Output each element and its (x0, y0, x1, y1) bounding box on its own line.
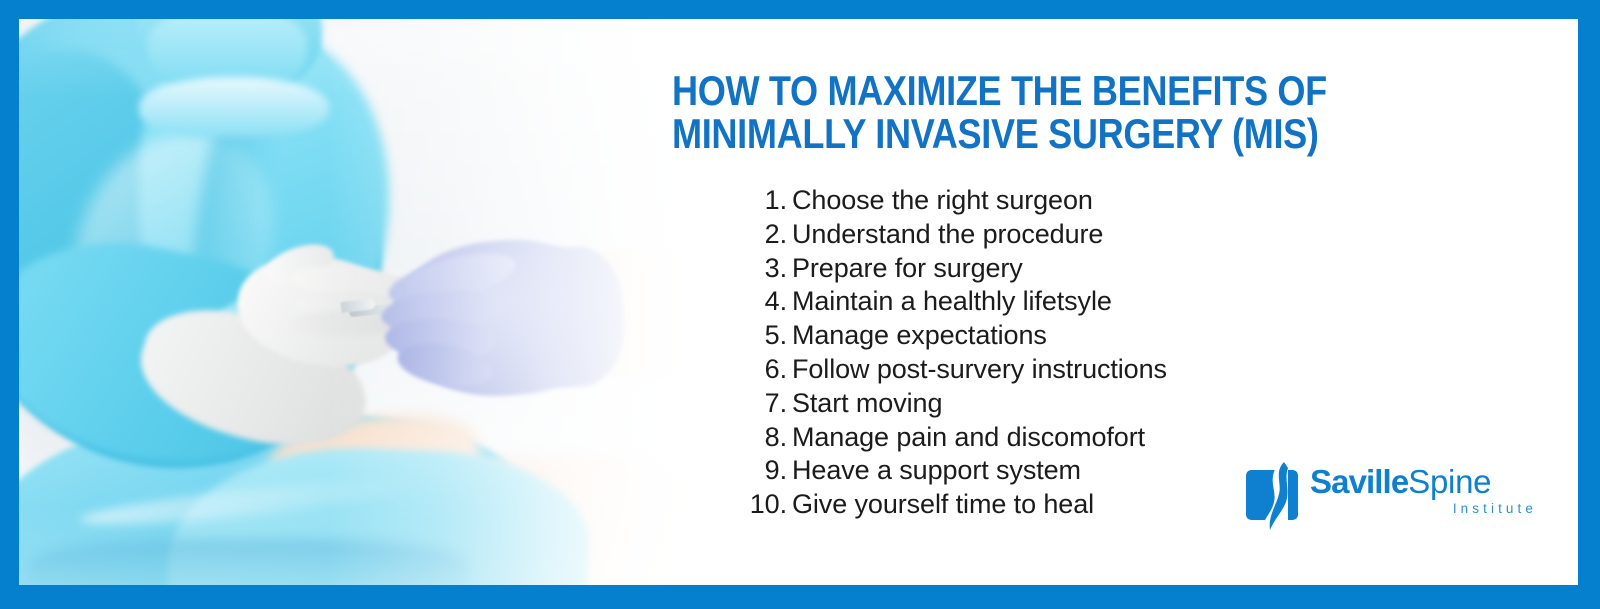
list-item-number: 8. (744, 421, 792, 455)
list-item-label: Follow post-survery instructions (792, 353, 1167, 387)
spine-mark-icon (1244, 460, 1300, 530)
photo-white-fade (19, 19, 719, 585)
list-item-number: 3. (744, 252, 792, 286)
saville-spine-logo: SavilleSpine Institute (1244, 456, 1544, 534)
list-item-number: 5. (744, 319, 792, 353)
list-item-number: 2. (744, 218, 792, 252)
logo-name-bold: Saville (1310, 463, 1408, 500)
logo-name-light: Spine (1408, 463, 1491, 500)
list-item-number: 10. (744, 488, 792, 522)
list-item-label: Prepare for surgery (792, 252, 1023, 286)
content-area: HOW TO MAXIMIZE THE BENEFITS OF MINIMALL… (659, 19, 1578, 585)
page-title: HOW TO MAXIMIZE THE BENEFITS OF MINIMALL… (672, 69, 1291, 155)
list-item: 4. Maintain a healthly lifetsyle (744, 285, 1364, 319)
list-item: 7. Start moving (744, 387, 1364, 421)
page-title-line-2: MINIMALLY INVASIVE SURGERY (MIS) (672, 112, 1291, 155)
list-item: 8. Manage pain and discomofort (744, 421, 1364, 455)
list-item-label: Give yourself time to heal (792, 488, 1094, 522)
list-item: 1. Choose the right surgeon (744, 184, 1364, 218)
list-item-label: Start moving (792, 387, 942, 421)
surgery-photo (19, 19, 719, 585)
infographic-card: HOW TO MAXIMIZE THE BENEFITS OF MINIMALL… (0, 0, 1600, 609)
page-title-line-1: HOW TO MAXIMIZE THE BENEFITS OF (672, 69, 1291, 112)
list-item: 6. Follow post-survery instructions (744, 353, 1364, 387)
logo-wordmark: SavilleSpine Institute (1310, 464, 1540, 516)
list-item-label: Manage pain and discomofort (792, 421, 1145, 455)
list-item-label: Choose the right surgeon (792, 184, 1093, 218)
logo-tagline: Institute (1310, 501, 1540, 516)
list-item-label: Maintain a healthly lifetsyle (792, 285, 1112, 319)
list-item: 3. Prepare for surgery (744, 252, 1364, 286)
list-item-label: Heave a support system (792, 454, 1081, 488)
list-item-number: 6. (744, 353, 792, 387)
list-item-number: 9. (744, 454, 792, 488)
logo-name: SavilleSpine (1310, 464, 1540, 500)
list-item-number: 4. (744, 285, 792, 319)
list-item-number: 1. (744, 184, 792, 218)
list-item: 2. Understand the procedure (744, 218, 1364, 252)
list-item-number: 7. (744, 387, 792, 421)
card-canvas: HOW TO MAXIMIZE THE BENEFITS OF MINIMALL… (19, 19, 1578, 585)
list-item-label: Manage expectations (792, 319, 1047, 353)
list-item-label: Understand the procedure (792, 218, 1103, 252)
list-item: 5. Manage expectations (744, 319, 1364, 353)
